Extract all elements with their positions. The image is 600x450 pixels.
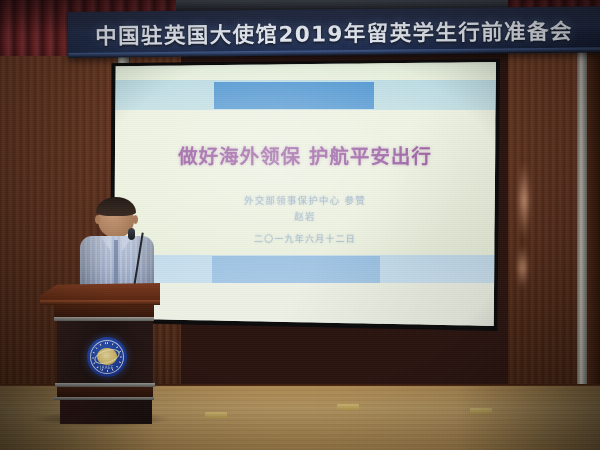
projection-screen: 做好海外领保 护航平安出行 外交部领事保护中心 参赞 赵岩 二〇一九年六月十二日 xyxy=(114,62,496,326)
wall-glare xyxy=(519,245,526,290)
right-metal-pillar xyxy=(577,30,587,390)
emblem-subtext: JAAEE xyxy=(87,365,127,370)
slide-bottom-accent-rect xyxy=(212,256,380,283)
speaker-figure xyxy=(78,196,156,292)
podium-foot xyxy=(60,400,152,424)
event-banner: 中国驻英国大使馆2019年留英学生行前准备会 xyxy=(68,6,600,58)
speaker-hair xyxy=(96,197,136,216)
podium: JAAEE xyxy=(40,283,160,423)
right-wall-edge xyxy=(587,30,600,392)
speaker-ear-right xyxy=(133,215,138,224)
podium-base xyxy=(57,387,153,397)
slide-subtitle-name: 赵岩 xyxy=(114,209,496,223)
institution-emblem: JAAEE xyxy=(87,337,127,377)
slide-subtitle-affiliation: 外交部领事保护中心 参赞 xyxy=(114,193,496,207)
slide-bottom-band xyxy=(114,283,496,326)
auditorium-stage-photo: 做好海外领保 护航平安出行 外交部领事保护中心 参赞 赵岩 二〇一九年六月十二日… xyxy=(0,0,600,450)
wall-glare xyxy=(520,160,528,240)
slide-date: 二〇一九年六月十二日 xyxy=(114,232,496,245)
podium-neck xyxy=(54,305,154,317)
microphone-icon xyxy=(128,228,135,240)
event-banner-text: 中国驻英国大使馆2019年留英学生行前准备会 xyxy=(68,14,600,51)
slide-top-accent-rect xyxy=(214,82,374,109)
slide-title: 做好海外领保 护航平安出行 xyxy=(114,140,496,169)
speaker-ear-left xyxy=(95,215,100,224)
